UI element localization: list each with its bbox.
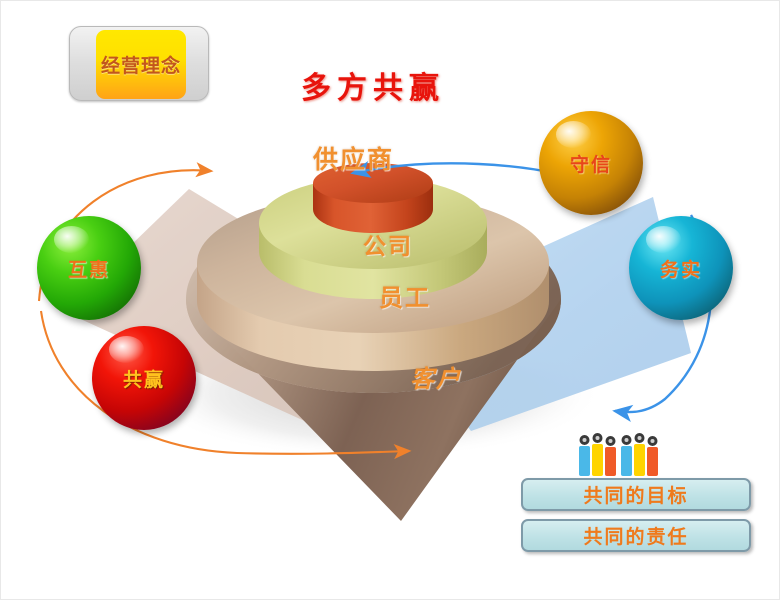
tier-label-supplier: 供应商: [313, 140, 394, 176]
goal-box-shared-responsibility-label: 共同的责任: [583, 522, 688, 549]
tier-label-employee: 员工: [379, 278, 431, 313]
group-of-people-icon: [577, 430, 667, 480]
tier-label-customer: 客户: [410, 359, 462, 394]
goal-box-shared-goal-label: 共同的目标: [583, 481, 688, 508]
sphere-wushi[interactable]: 务实: [629, 216, 733, 320]
goal-box-shared-goal[interactable]: 共同的目标: [521, 478, 751, 511]
sphere-gongying[interactable]: 共赢: [92, 326, 196, 430]
tier-label-company: 公司: [363, 227, 413, 261]
goal-box-shared-responsibility[interactable]: 共同的责任: [521, 519, 751, 552]
sphere-huhui[interactable]: 互惠: [37, 216, 141, 320]
concept-badge-label: 经营理念: [101, 51, 181, 78]
concept-badge[interactable]: 经营理念: [69, 26, 209, 101]
people-figures: [579, 433, 658, 476]
concept-badge-fill: 经营理念: [96, 30, 186, 99]
page-title: 多方共赢: [301, 63, 445, 107]
sphere-shouxin[interactable]: 守信: [539, 111, 643, 215]
sphere-gongying-label: 共赢: [123, 365, 165, 392]
slide-canvas: 经营理念 多方共赢 互惠 共赢 守信 务实 供应商 公司 员工 客户: [0, 0, 780, 600]
sphere-huhui-label: 互惠: [68, 255, 110, 282]
sphere-wushi-label: 务实: [660, 255, 702, 282]
sphere-shouxin-label: 守信: [570, 150, 612, 177]
